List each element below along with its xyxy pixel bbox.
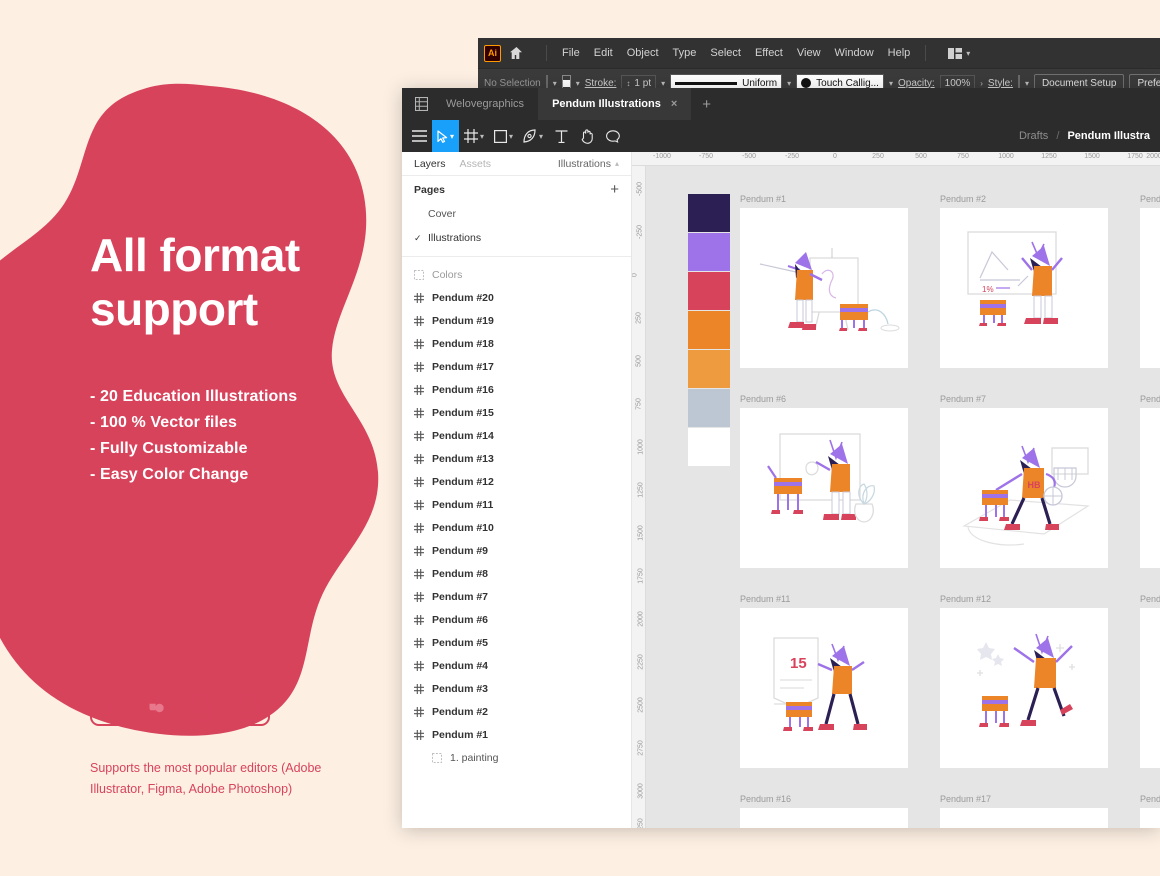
component-icon [414,408,424,418]
frame-artboard[interactable]: 1% [940,208,1108,368]
frame-artboard[interactable] [740,208,908,368]
layer-label: Pendum #17 [432,361,494,373]
illustration-basketball: HB [940,408,1108,568]
frame-tool-chevron-down-icon[interactable]: ▾ [480,132,484,141]
illustrator-badge-icon: Ai [90,690,126,726]
layer-label: Pendum #4 [432,660,488,672]
component-icon [414,500,424,510]
frame-label[interactable]: Pendum #11 [740,594,908,604]
layer-label: Pendum #10 [432,522,494,534]
illustrator-app-icon[interactable]: Ai [484,45,501,62]
frame-pendum-11[interactable]: Pendum #11 15 [740,594,908,768]
stroke-chevron-down-icon[interactable]: ▾ [576,79,580,88]
shape-tool[interactable]: ▾ [489,120,518,152]
frame-label[interactable]: Pendum #7 [940,394,1108,404]
component-icon [414,615,424,625]
frame-artboard[interactable] [940,808,1108,828]
svg-text:.svg: .svg [244,707,259,716]
page-item-illustrations[interactable]: ✓ Illustrations [402,226,631,250]
frame-artboard[interactable]: HB [940,408,1108,568]
ruler-tick: -1000 [653,153,671,160]
format-badges: Ai .png .svg [90,690,270,726]
component-icon [414,362,424,372]
frame-artboard[interactable] [1140,608,1160,768]
pages-section: Pages + Cover ✓ Illustrations [402,176,631,257]
component-icon [414,339,424,349]
ruler-tick: 250 [635,312,642,324]
close-icon[interactable]: × [671,98,677,110]
frame-tool[interactable]: ▾ [459,120,489,152]
frame-pendum-18[interactable]: Pendum #18 [1140,794,1160,828]
layer-item-pendum-16[interactable]: Pendum #16 [402,378,631,401]
illustration-easel [740,208,908,368]
pen-tool-chevron-down-icon[interactable]: ▾ [539,132,543,141]
component-set-icon [414,270,424,280]
stroke-label[interactable]: Stroke: [585,78,617,89]
swatch-dark-navy[interactable] [688,194,730,232]
layer-item-pendum-13[interactable]: Pendum #13 [402,447,631,470]
frame-artboard[interactable] [740,808,908,828]
svg-badge-icon: .svg [234,690,270,726]
ruler-tick: 3000 [637,783,644,799]
menubar-divider-2 [925,45,926,61]
promo-panel: All format support - 20 Education Illust… [0,0,470,876]
tab-label: Welovegraphics [446,98,524,110]
illustration-whiteboard: 1% [940,208,1108,368]
illustration-celebrate [940,608,1108,768]
ruler-tick: 1250 [637,482,644,498]
tab-welovegraphics[interactable]: Welovegraphics [432,88,538,120]
opacity-label[interactable]: Opacity: [898,78,935,89]
component-icon [414,454,424,464]
page-selector[interactable]: Illustrations ▴ [558,158,619,170]
frame-label[interactable]: Pendum #18 [1140,794,1160,804]
illustration-calendar: 15 [740,608,908,768]
new-tab-button[interactable]: + [691,96,722,113]
layer-item-pendum-6[interactable]: Pendum #6 [402,608,631,631]
component-icon [414,730,424,740]
svg-text:1%: 1% [982,285,994,294]
layer-item-pendum-12[interactable]: Pendum #12 [402,470,631,493]
tab-assets[interactable]: Assets [460,158,492,170]
layer-label: Pendum #15 [432,407,494,419]
layer-item-pendum-18[interactable]: Pendum #18 [402,332,631,355]
frame-label[interactable]: Pendum #12 [940,594,1108,604]
feature-item: - Fully Customizable [90,436,420,462]
breadcrumb-root[interactable]: Drafts [1019,130,1048,142]
layer-item-pendum-4[interactable]: Pendum #4 [402,654,631,677]
stroke-profile-value: Uniform [742,78,777,89]
tab-pendum-illustrations[interactable]: Pendum Illustrations × [538,88,691,120]
frame-artboard[interactable] [740,408,908,568]
swatch-light-orange[interactable] [688,350,730,388]
arrange-documents-button[interactable]: ▾ [948,48,970,59]
ruler-tick: 250 [872,153,884,160]
feature-item: - Easy Color Change [90,462,420,488]
supports-text: Supports the most popular editors (Adobe… [90,758,340,800]
stroke-weight-value: 1 pt [634,78,651,89]
figma-canvas[interactable]: -1000 -750 -500 -250 0 250 500 750 1000 … [632,152,1160,828]
feature-list: - 20 Education Illustrations - 100 % Vec… [90,384,420,488]
frame-label[interactable]: Pendum #13 [1140,594,1160,604]
swatch-white[interactable] [688,428,730,466]
style-label[interactable]: Style: [988,78,1013,89]
layer-label: 1. painting [450,752,498,764]
style-chevron-down-icon[interactable]: ▾ [1025,79,1029,88]
frame-label[interactable]: Pendum #2 [940,194,1108,204]
stroke-weight-chevron-down-icon[interactable]: ▾ [661,79,665,88]
layer-item-pendum-11[interactable]: Pendum #11 [402,493,631,516]
menu-window[interactable]: Window [828,38,881,68]
component-icon [414,569,424,579]
frame-pendum-3[interactable]: Pendum #3 [1140,194,1160,368]
breadcrumb[interactable]: Drafts / Pendum Illustra [1019,130,1160,142]
ruler-tick: 2250 [637,654,644,670]
figma-tool-group: ▾ ▾ ▾ ▾ [406,120,626,152]
menu-edit[interactable]: Edit [587,38,620,68]
frame-pendum-13[interactable]: Pendum #13 [1140,594,1160,768]
ruler-tick: -750 [699,153,713,160]
figma-toolbar: ▾ ▾ ▾ ▾ [402,120,1160,152]
frame-pendum-17[interactable]: Pendum #17 [940,794,1108,828]
opacity-value: 100% [945,78,971,89]
brush-value: Touch Callig... [816,78,879,89]
fill-chevron-down-icon[interactable]: ▾ [553,79,557,88]
opacity-arrow-icon[interactable]: › [980,79,983,88]
frame-label[interactable]: Pendum #3 [1140,194,1160,204]
ruler-tick: 0 [833,153,837,160]
layer-label: Pendum #1 [432,729,488,741]
frame-artboard[interactable] [1140,808,1160,828]
component-icon [414,523,424,533]
ruler-tick: -250 [637,225,644,239]
frame-label[interactable]: Pendum #1 [740,194,908,204]
main-menu-icon[interactable] [406,120,432,152]
ruler-tick: 2500 [637,697,644,713]
frame-label[interactable]: Pendum #16 [740,794,908,804]
figma-badge-icon [138,690,174,726]
svg-text:HB: HB [1028,480,1041,490]
frame-label[interactable]: Pendum #6 [740,394,908,404]
figma-body: Layers Assets Illustrations ▴ Pages + Co… [402,152,1160,828]
component-set-icon [432,753,442,763]
frame-artboard[interactable]: 15 [740,608,908,768]
menu-object[interactable]: Object [620,38,666,68]
chevron-down-icon: ▾ [966,49,970,58]
frame-artboard[interactable] [940,608,1108,768]
swatch-dark-orange[interactable] [688,311,730,349]
layer-label: Pendum #12 [432,476,494,488]
page-item-cover[interactable]: Cover [402,202,631,226]
uniform-profile-icon [675,82,737,85]
png-badge-icon: .png [186,690,222,726]
page-label: Illustrations [428,232,481,244]
frame-artboard[interactable] [1140,408,1160,568]
shape-tool-chevron-down-icon[interactable]: ▾ [509,132,513,141]
pages-header-label: Pages [414,184,445,196]
layer-label: Pendum #11 [432,499,493,511]
layers-panel: Layers Assets Illustrations ▴ Pages + Co… [402,152,632,828]
component-icon [414,431,424,441]
frame-pendum-16[interactable]: Pendum #16 [740,794,908,828]
layer-item-pendum-5[interactable]: Pendum #5 [402,631,631,654]
illustration-window [740,408,908,568]
ruler-tick: -500 [637,182,644,196]
layer-item-pendum-2[interactable]: Pendum #2 [402,700,631,723]
layer-item-pendum-7[interactable]: Pendum #7 [402,585,631,608]
menu-file[interactable]: File [555,38,587,68]
horizontal-ruler[interactable]: -1000 -750 -500 -250 0 250 500 750 1000 … [632,152,1160,166]
layers-panel-tabs: Layers Assets Illustrations ▴ [402,152,631,176]
ruler-tick: -250 [785,153,799,160]
layer-item-colors[interactable]: Colors [402,263,631,286]
hand-tool[interactable] [574,120,600,152]
layer-item-pendum-3[interactable]: Pendum #3 [402,677,631,700]
component-icon [414,477,424,487]
illustrator-menubar: Ai File Edit Object Type Select Effect V… [478,38,1160,68]
frame-pendum-2[interactable]: Pendum #2 1% [940,194,1108,368]
home-icon[interactable] [509,46,524,60]
layer-item-pendum-1[interactable]: Pendum #1 [402,723,631,746]
svg-text:.png: .png [196,707,212,716]
menu-select[interactable]: Select [703,38,748,68]
component-icon [414,661,424,671]
layer-label: Pendum #20 [432,292,494,304]
layer-item-pendum-10[interactable]: Pendum #10 [402,516,631,539]
layer-label: Pendum #7 [432,591,488,603]
pen-tool[interactable]: ▾ [518,120,548,152]
layer-label: Pendum #6 [432,614,488,626]
page-title: All format support [90,228,420,336]
layer-item-1-painting[interactable]: 1. painting [402,746,631,769]
breadcrumb-separator: / [1056,130,1059,142]
menubar-divider [546,45,547,61]
menu-type[interactable]: Type [666,38,704,68]
check-icon: ✓ [414,233,428,244]
add-page-button[interactable]: + [610,185,619,195]
feature-item: - 20 Education Illustrations [90,384,420,410]
move-tool[interactable]: ▾ [432,120,459,152]
component-icon [414,546,424,556]
layer-item-pendum-17[interactable]: Pendum #17 [402,355,631,378]
menu-view[interactable]: View [790,38,828,68]
frame-pendum-8[interactable]: Pendum #8 [1140,394,1160,568]
page-selector-label: Illustrations [558,158,611,170]
pages-header-row: Pages + [402,184,631,202]
stepper-icon[interactable]: ↕ [626,79,630,88]
ruler-tick: 1250 [1041,153,1057,160]
component-icon [414,316,424,326]
profile-chevron-down-icon[interactable]: ▾ [787,79,791,88]
frame-label[interactable]: Pendum #17 [940,794,1108,804]
menu-effect[interactable]: Effect [748,38,790,68]
menu-help[interactable]: Help [881,38,918,68]
component-icon [414,707,424,717]
page-label: Cover [428,208,456,220]
component-icon [414,293,424,303]
swatch-light-purple[interactable] [688,233,730,271]
figma-tabbar: Welovegraphics Pendum Illustrations × + [402,88,1160,120]
layer-item-pendum-9[interactable]: Pendum #9 [402,539,631,562]
layer-label: Pendum #18 [432,338,494,350]
frame-pendum-12[interactable]: Pendum #12 [940,594,1108,768]
layer-label: Pendum #2 [432,706,488,718]
ruler-tick: 1000 [998,153,1014,160]
text-tool[interactable] [548,120,574,152]
ruler-tick: -500 [742,153,756,160]
ruler-tick: 1750 [637,568,644,584]
ruler-tick: 2000 [637,611,644,627]
ruler-tick: 3250 [637,818,644,828]
component-icon [414,638,424,648]
layer-label: Pendum #16 [432,384,494,396]
layer-label: Pendum #14 [432,430,494,442]
move-tool-chevron-down-icon[interactable]: ▾ [450,132,454,141]
layer-label: Pendum #8 [432,568,488,580]
layer-label: Pendum #5 [432,637,488,649]
ruler-tick: 1500 [637,525,644,541]
chevron-up-icon: ▴ [615,159,619,168]
layer-label: Pendum #3 [432,683,488,695]
layer-item-pendum-8[interactable]: Pendum #8 [402,562,631,585]
frame-artboard[interactable] [1140,208,1160,368]
illustrator-badge-label: Ai [102,701,115,716]
ruler-tick: 500 [915,153,927,160]
component-icon [414,592,424,602]
swatch-light-blue-gray[interactable] [688,389,730,427]
layer-item-pendum-15[interactable]: Pendum #15 [402,401,631,424]
layer-label: Pendum #19 [432,315,494,327]
selection-status: No Selection [484,78,541,89]
ruler-tick: 2750 [637,740,644,756]
frame-pendum-6[interactable]: Pendum #6 [740,394,908,568]
comment-tool[interactable] [600,120,626,152]
ruler-tick: 1750 [1127,153,1143,160]
ruler-tick: 2000 [1146,153,1160,160]
layer-item-pendum-20[interactable]: Pendum #20 [402,286,631,309]
svg-text:15: 15 [790,655,807,672]
layer-item-pendum-14[interactable]: Pendum #14 [402,424,631,447]
figma-app-icon[interactable] [410,97,432,111]
canvas-content: Pendum #1 [646,166,1160,828]
ruler-tick: 1500 [1084,153,1100,160]
component-icon [414,385,424,395]
layer-label: Pendum #13 [432,453,494,465]
layer-list: Colors Pendum #20 Pendum #19 Pend [402,257,631,769]
brush-chevron-down-icon[interactable]: ▾ [889,79,893,88]
component-icon [414,684,424,694]
brush-icon [801,78,811,88]
breadcrumb-file[interactable]: Pendum Illustra [1067,130,1150,142]
vertical-ruler[interactable]: -500 -250 0 250 500 750 1000 1250 1500 1… [632,166,646,828]
feature-item: - 100 % Vector files [90,410,420,436]
layer-label: Colors [432,269,462,281]
layer-item-pendum-19[interactable]: Pendum #19 [402,309,631,332]
ruler-tick: 500 [635,355,642,367]
ruler-tick: 750 [957,153,969,160]
tab-label: Pendum Illustrations [552,98,661,110]
promo-content: All format support - 20 Education Illust… [90,228,420,488]
ruler-tick: 1000 [637,439,644,455]
ruler-tick: 0 [632,273,638,277]
frame-label[interactable]: Pendum #8 [1140,394,1160,404]
layer-label: Pendum #9 [432,545,488,557]
frame-pendum-1[interactable]: Pendum #1 [740,194,908,368]
swatch-crimson[interactable] [688,272,730,310]
figma-window: Welovegraphics Pendum Illustrations × + … [402,88,1160,828]
color-swatch-column [688,194,730,467]
ruler-tick: 750 [635,398,642,410]
frame-pendum-7[interactable]: Pendum #7 HB [940,394,1108,568]
tab-layers[interactable]: Layers [414,158,446,170]
